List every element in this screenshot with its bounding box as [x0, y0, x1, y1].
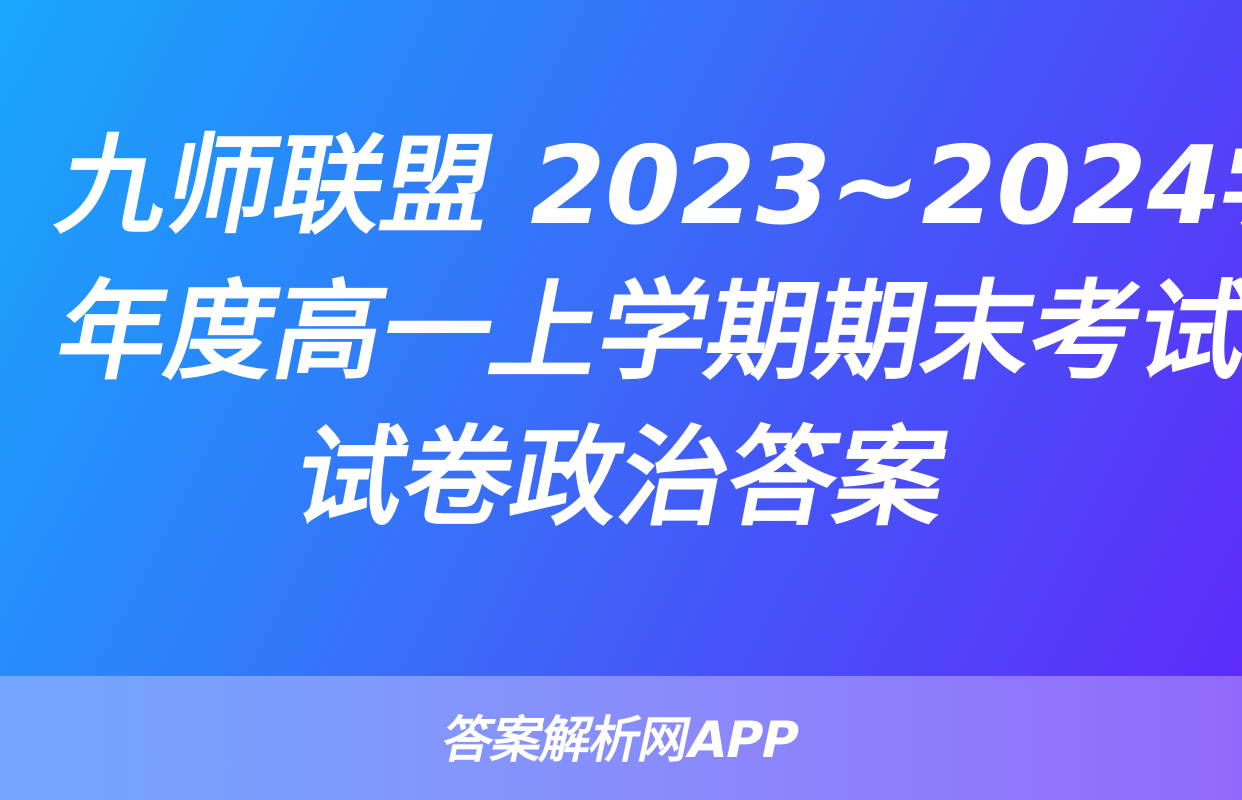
poster-screen: 九师联盟 2023~2024学 年度高一上学期期末考试 试卷政治答案 答案解析网… [0, 0, 1242, 800]
title-line-3: 试卷政治答案 [46, 406, 1196, 552]
app-promo-banner-label: 答案解析网APP [437, 711, 803, 769]
hero-gradient-background: 九师联盟 2023~2024学 年度高一上学期期末考试 试卷政治答案 [0, 0, 1242, 676]
app-promo-banner: 答案解析网APP [0, 676, 1242, 800]
title-line-1: 九师联盟 2023~2024学 [46, 114, 1196, 260]
page-title: 九师联盟 2023~2024学 年度高一上学期期末考试 试卷政治答案 [0, 0, 1242, 676]
title-line-2: 年度高一上学期期末考试 [46, 260, 1196, 406]
